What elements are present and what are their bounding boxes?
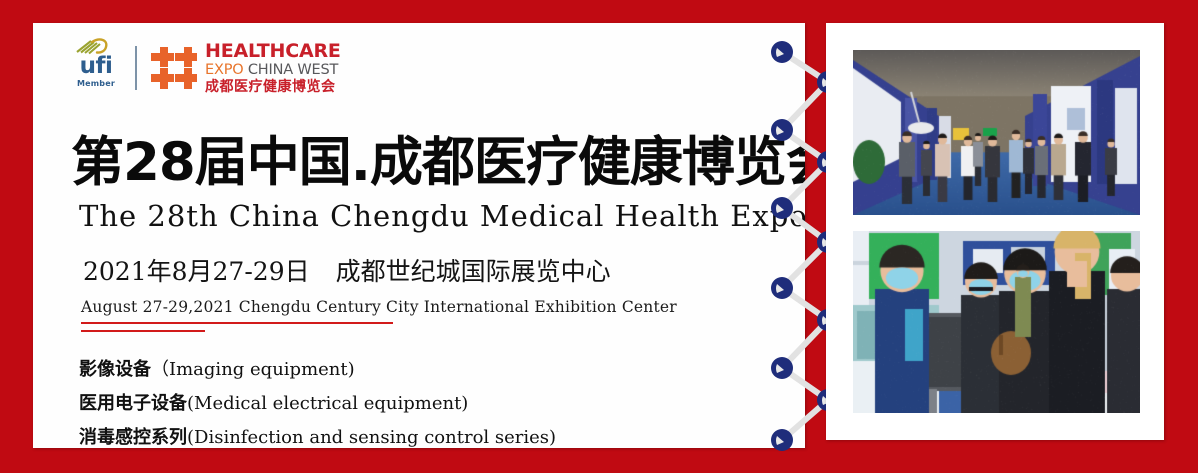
exhibition-hall-aisle-photo	[853, 50, 1140, 215]
category-label-en: (Medical electrical equipment)	[187, 393, 468, 414]
page-title-english: The 28th China Chengdu Medical Health Ex…	[79, 199, 805, 233]
expo-word: EXPO	[205, 62, 243, 78]
ufi-member-label: Member	[66, 78, 126, 89]
expo-name-chinese: 成都医疗健康博览会	[205, 80, 341, 94]
ufi-wordmark: ufi	[66, 55, 126, 78]
expo-name-line1: HEALTHCARE	[205, 42, 341, 61]
event-date-chinese: 2021年8月27-29日	[83, 257, 310, 286]
left-info-card: ufi Member HEALTHCARE EXPO	[33, 23, 805, 448]
ufi-member-logo: ufi Member	[66, 38, 126, 98]
category-label-cn: 影像设备	[79, 359, 151, 380]
category-label-en: (Disinfection and sensing control series…	[187, 427, 556, 448]
category-label-cn: 医用电子设备	[79, 393, 187, 414]
ufi-swoosh-icon	[66, 38, 126, 55]
booth-visitors-masks-photo	[853, 231, 1140, 413]
right-photo-card	[826, 23, 1164, 440]
category-item: 医用电子设备(Medical electrical equipment)	[79, 387, 556, 421]
logo-divider	[135, 46, 137, 90]
divider-rule-long	[81, 322, 393, 324]
expo-name-line2: EXPO CHINA WEST	[205, 63, 341, 78]
category-item: 影像设备（Imaging equipment)	[79, 353, 556, 387]
event-date-venue-english: August 27-29,2021 Chengdu Century City I…	[81, 298, 677, 317]
event-venue-chinese: 成都世纪城国际展览中心	[336, 257, 611, 286]
expo-banner: ufi Member HEALTHCARE EXPO	[0, 0, 1198, 473]
category-label-en: （Imaging equipment)	[151, 359, 355, 380]
category-item: 消毒感控系列(Disinfection and sensing control …	[79, 421, 556, 448]
category-list: 影像设备（Imaging equipment) 医用电子设备(Medical e…	[79, 353, 556, 448]
pinwheel-cross-icon	[148, 43, 198, 93]
page-title-chinese: 第28届中国.成都医疗健康博览会	[71, 134, 805, 192]
expo-region: CHINA WEST	[248, 62, 338, 78]
logo-row: ufi Member HEALTHCARE EXPO	[66, 37, 341, 99]
divider-rule-short	[81, 330, 205, 332]
event-date-venue-chinese: 2021年8月27-29日成都世纪城国际展览中心	[83, 257, 611, 287]
healthcare-expo-wordmark: HEALTHCARE EXPO CHINA WEST 成都医疗健康博览会	[205, 42, 341, 94]
category-label-cn: 消毒感控系列	[79, 427, 187, 448]
